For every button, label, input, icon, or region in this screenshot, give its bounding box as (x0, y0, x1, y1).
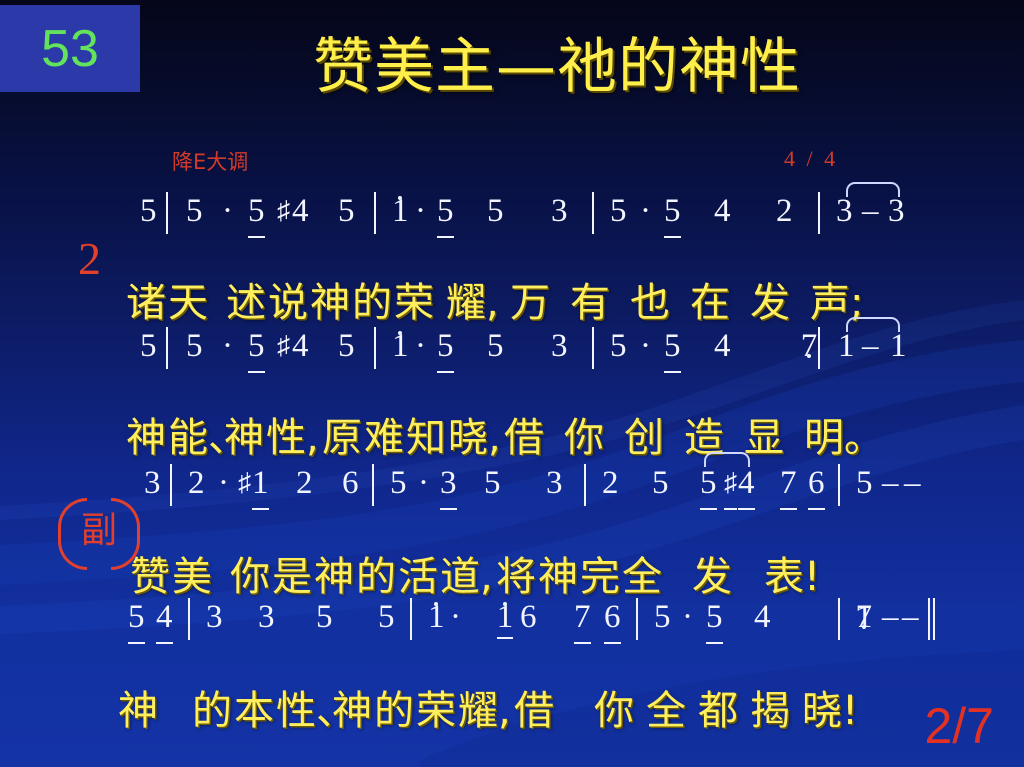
lyrics-row: 神 的 本 性、 神 的 荣 耀, 借 你 全 都 揭 晓! (0, 682, 1024, 740)
notation-row: 3 2 · ♯ 1 2 6 5 · 3 5 3 2 5 5 ♯ 4 7 6 5 … (0, 460, 1024, 506)
lyrics-row: 神 能、 神 性, 原 难 知 晓, 借 你 创 造 显 明。 (0, 409, 1024, 467)
music-system-verse-line-1: 5 5 · 5 ♯ 4 5 1 · 5 5 3 5 · 5 4 2 3 – 3 (0, 188, 1024, 292)
notation-row: 5 5 · 5 ♯ 4 5 1 · 5 5 3 5 · 5 4 7 1 – 1 (0, 323, 1024, 369)
slide-canvas: 53 赞美主—祂的神性 降E大调 4 / 4 2 副 5 5 · 5 ♯ 4 5… (0, 0, 1024, 767)
time-signature-label: 4 / 4 (784, 146, 838, 172)
page-number: 2/7 (924, 697, 994, 755)
music-system-verse-line-2: 5 5 · 5 ♯ 4 5 1 · 5 5 3 5 · 5 4 7 1 – 1 (0, 323, 1024, 427)
music-system-chorus-line-2: 5 4 3 3 5 5 1 · 1 6 7 6 5 · 5 4 7 1 – – (0, 594, 1024, 698)
music-system-chorus-line-1: 3 2 · ♯ 1 2 6 5 · 3 5 3 2 5 5 ♯ 4 7 6 5 … (0, 460, 1024, 564)
key-signature-label: 降E大调 (172, 146, 248, 176)
notation-row: 5 5 · 5 ♯ 4 5 1 · 5 5 3 5 · 5 4 2 3 – 3 (0, 188, 1024, 234)
notation-row: 5 4 3 3 5 5 1 · 1 6 7 6 5 · 5 4 7 1 – – (0, 594, 1024, 640)
page-title: 赞美主—祂的神性 (0, 36, 1024, 99)
